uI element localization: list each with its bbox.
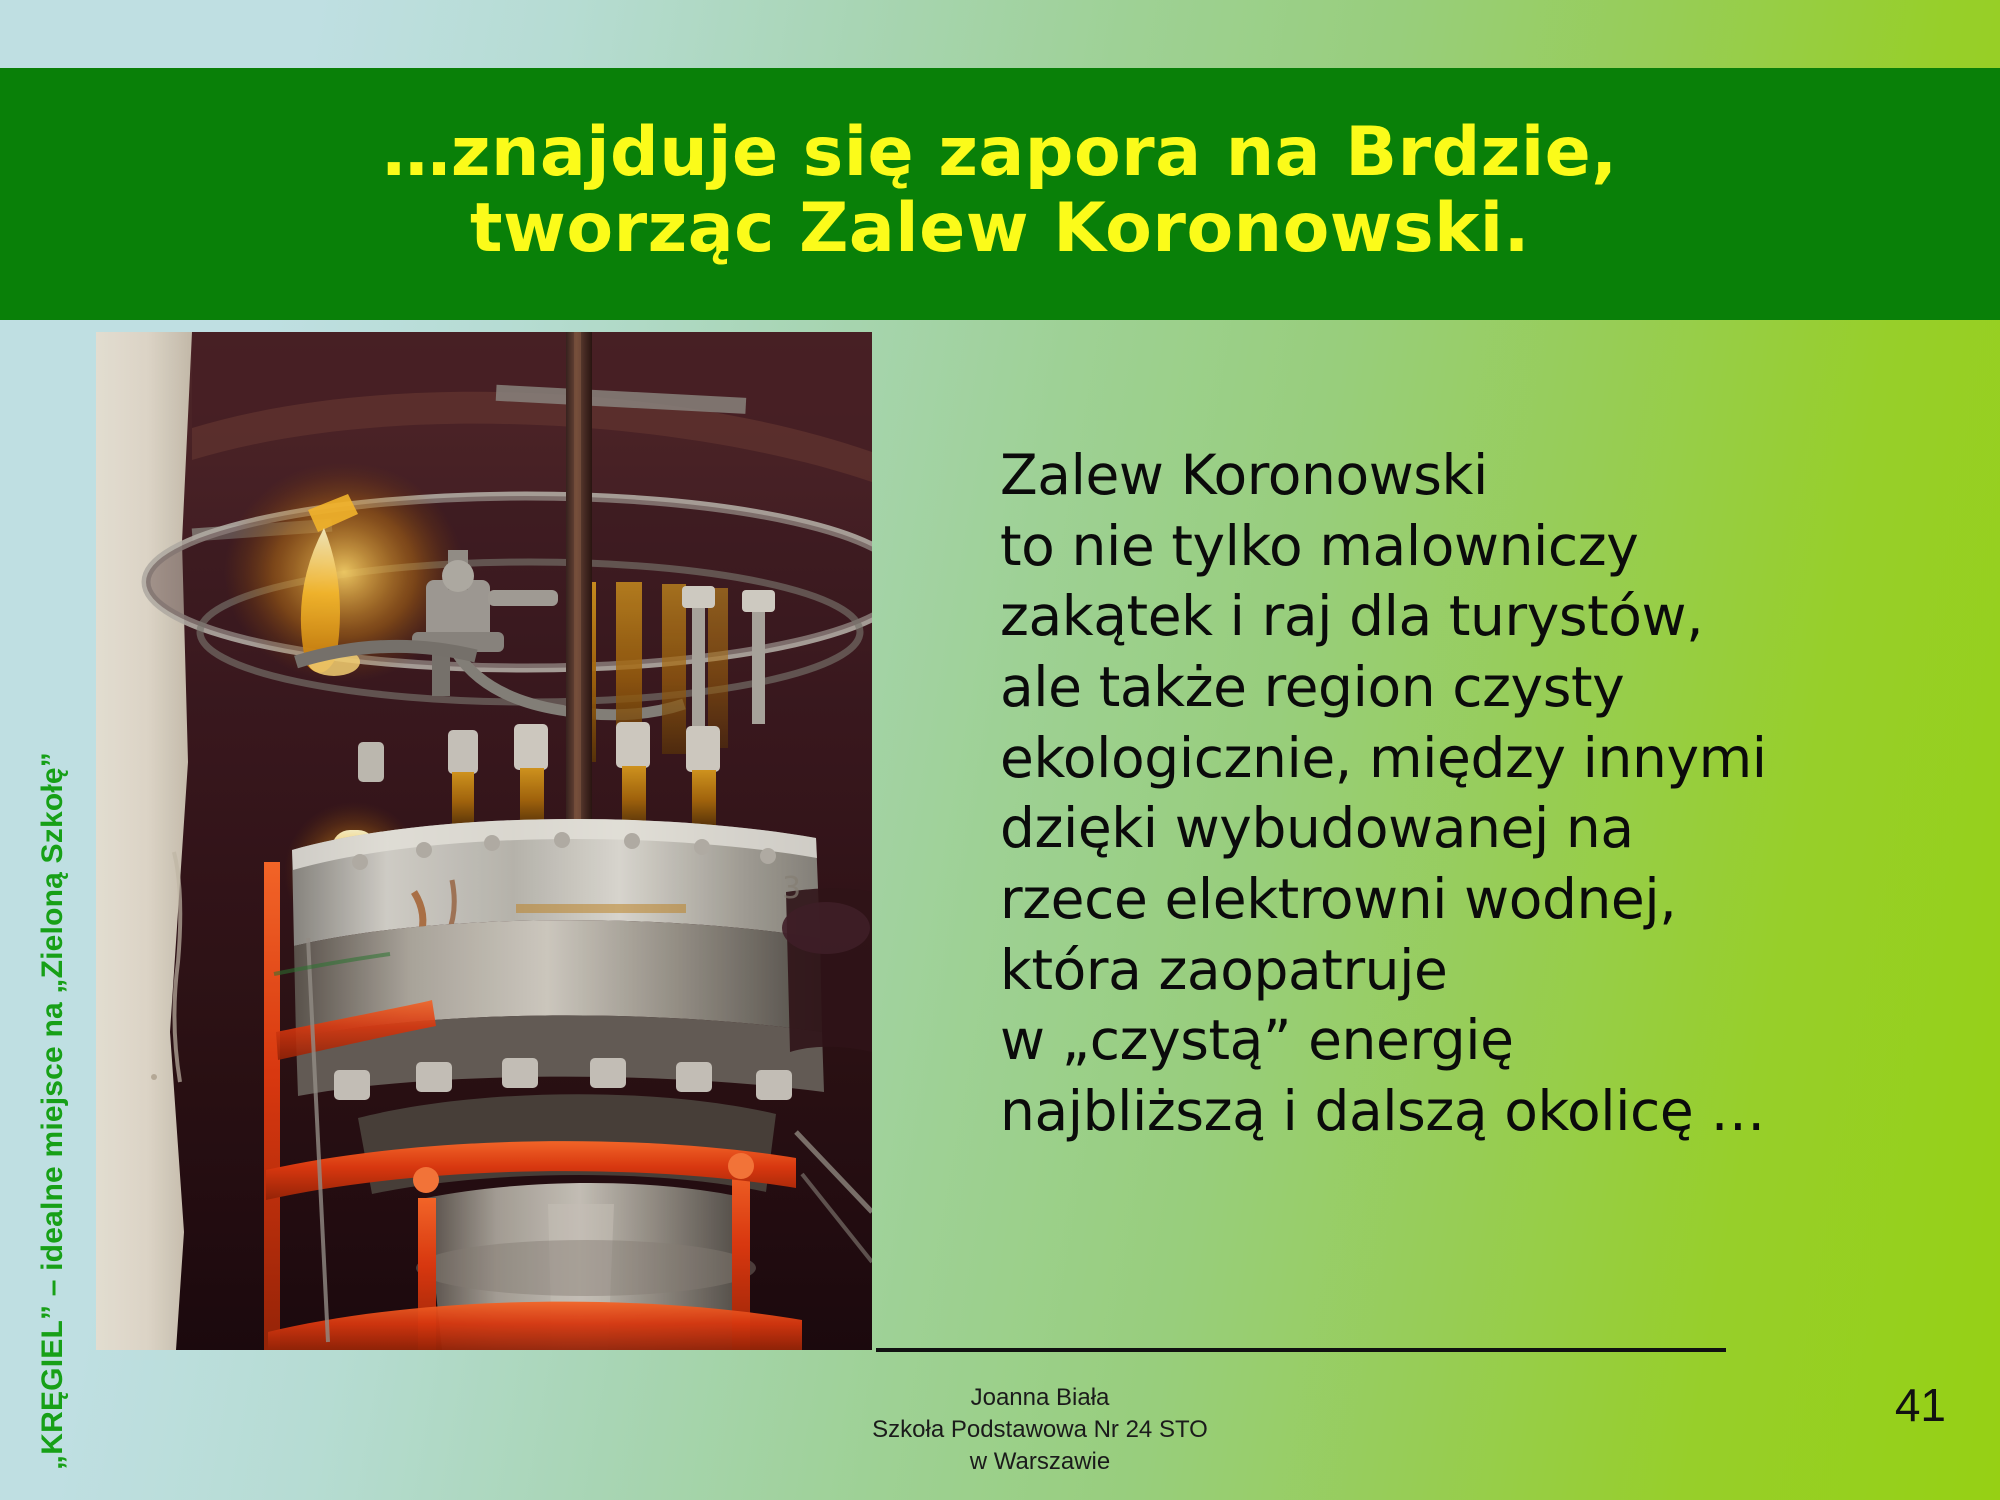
- body-paragraph: Zalew Koronowski to nie tylko malowniczy…: [1000, 440, 1930, 1147]
- presentation-slide: …znajduje się zapora na Brdzie, tworząc …: [0, 0, 2000, 1500]
- turbine-hall-photo: 3: [96, 332, 872, 1350]
- slide-title: …znajduje się zapora na Brdzie, tworząc …: [382, 115, 1617, 267]
- author-credit: Joanna Biała Szkoła Podstawowa Nr 24 STO…: [760, 1382, 1320, 1478]
- page-number: 41: [1895, 1382, 1946, 1428]
- photo-artwork: 3: [96, 332, 872, 1350]
- side-caption: „KRĘGIEL” – idealne miejsce na „Zieloną …: [14, 330, 92, 1470]
- title-bar: …znajduje się zapora na Brdzie, tworząc …: [0, 68, 2000, 320]
- side-caption-text: „KRĘGIEL” – idealne miejsce na „Zieloną …: [36, 752, 70, 1470]
- footer-divider: [876, 1348, 1726, 1352]
